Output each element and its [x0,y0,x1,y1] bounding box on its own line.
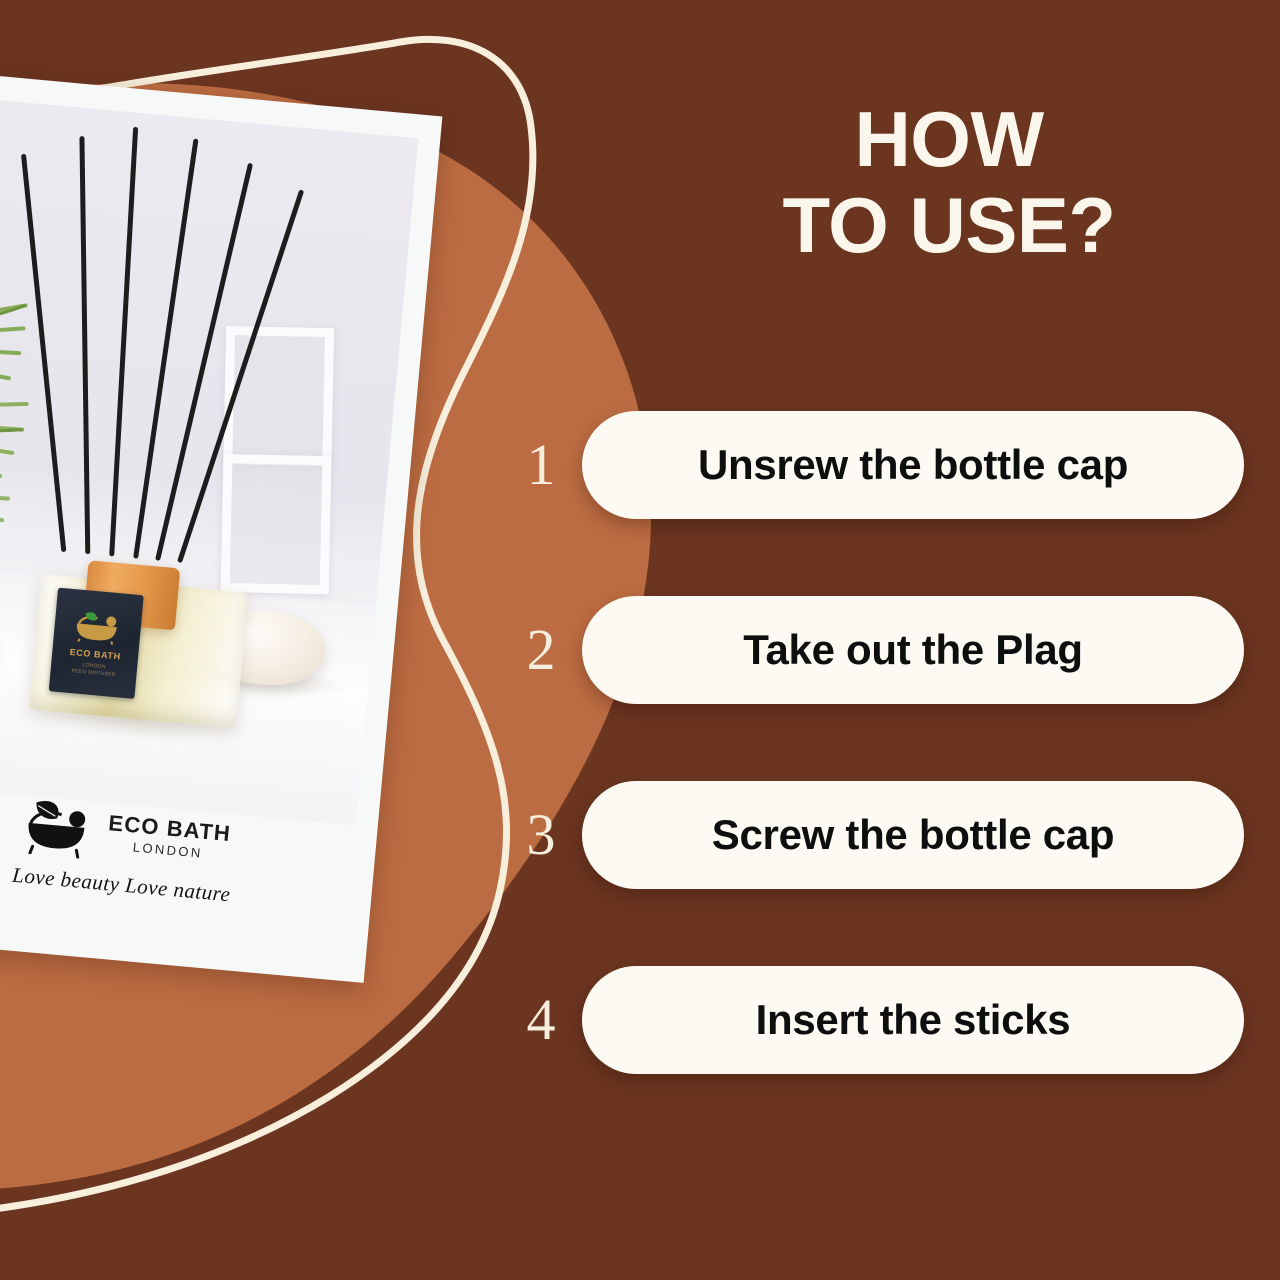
step-item: 4 Insert the sticks [500,960,1280,1080]
step-label: Insert the sticks [756,996,1071,1044]
bottle-label: ECO BATH LONDONREED DIFFUSER [49,588,144,699]
photo-scene: ECO BATH LONDONREED DIFFUSER [0,97,418,825]
steps-list: 1 Unsrew the bottle cap 2 Take out the P… [500,405,1280,1080]
step-pill[interactable]: Unsrew the bottle cap [582,411,1244,519]
bathtub-leaf-icon [69,607,126,646]
step-pill[interactable]: Insert the sticks [582,966,1244,1074]
step-item: 3 Screw the bottle cap [500,775,1280,895]
step-pill[interactable]: Take out the Plag [582,596,1244,704]
step-number: 4 [500,991,582,1049]
step-label: Unsrew the bottle cap [698,441,1128,489]
diffuser-bottle: ECO BATH LONDONREED DIFFUSER [29,558,250,728]
step-label: Take out the Plag [743,626,1083,674]
title-line-2: TO USE? [618,182,1280,268]
step-label: Screw the bottle cap [712,811,1114,859]
step-item: 2 Take out the Plag [500,590,1280,710]
page-title: HOW TO USE? [618,96,1280,268]
step-number: 3 [500,806,582,864]
step-item: 1 Unsrew the bottle cap [500,405,1280,525]
brand-wordmark: ECO BATH LONDON [106,812,232,863]
step-pill[interactable]: Screw the bottle cap [582,781,1244,889]
product-photo: ECO BATH LONDONREED DIFFUSER [0,97,418,825]
infographic-poster: ECO BATH LONDONREED DIFFUSER [0,0,1280,1280]
step-number: 1 [500,436,582,494]
step-number: 2 [500,621,582,679]
reed-sticks [43,122,311,571]
bottle-label-sub: LONDONREED DIFFUSER [50,659,137,681]
bathtub-leaf-icon [19,795,98,859]
title-line-1: HOW [618,96,1280,182]
